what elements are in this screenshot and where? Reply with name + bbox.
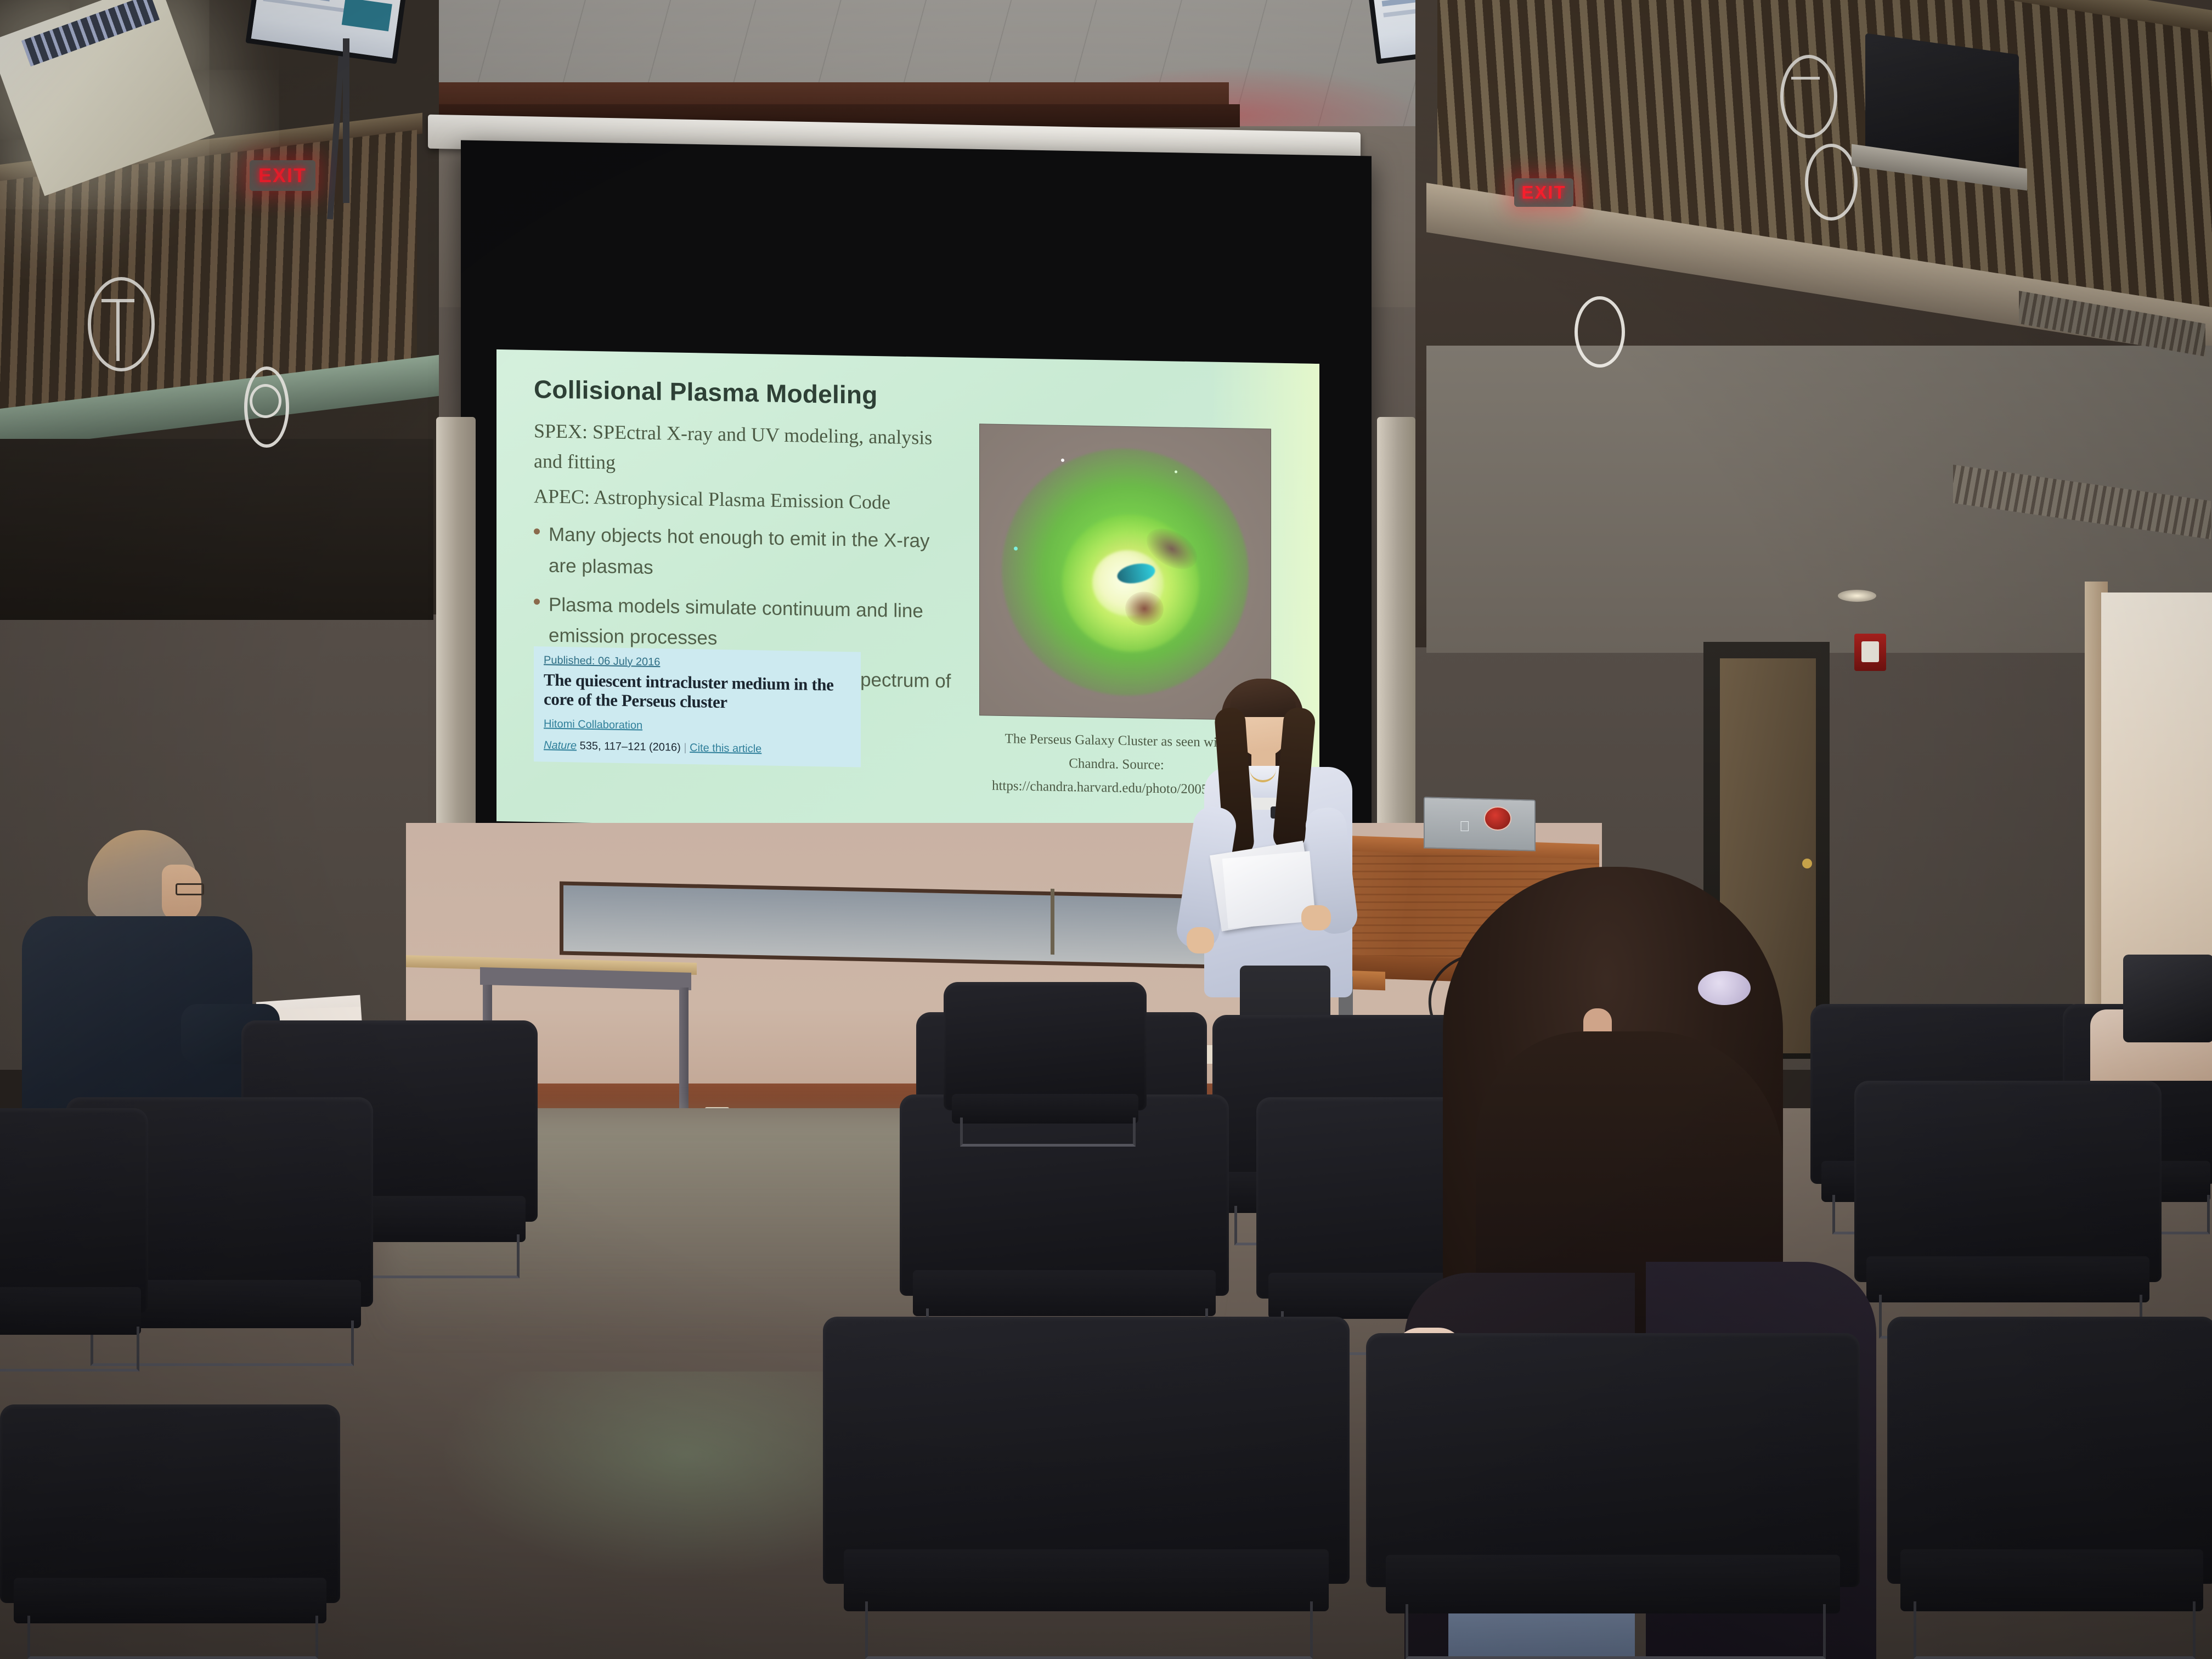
bullet-dot-icon	[534, 528, 540, 534]
right-railing-ornament-2-icon	[1805, 144, 1858, 221]
citation-journal-line: Nature 535, 117–121 (2016) | Cite this a…	[544, 740, 851, 758]
laptop[interactable]	[1424, 797, 1536, 851]
left-balcony-underside	[0, 439, 433, 620]
slide-bullet-1-text: Many objects hot enough to emit in the X…	[549, 520, 956, 589]
chair[interactable]	[944, 982, 1147, 1147]
field-star-icon	[1175, 470, 1177, 473]
citation-paper-title: The quiescent intracluster medium in the…	[544, 670, 851, 714]
citation-separator: |	[684, 742, 686, 754]
bullet-dot-icon	[534, 599, 540, 605]
eyeglasses-icon	[176, 883, 204, 895]
slide-definition-spex: SPEX: SPEctral X-ray and UV modeling, an…	[534, 416, 956, 483]
citation-journal-name[interactable]: Nature	[544, 740, 577, 752]
fire-alarm-strobe-icon	[1854, 634, 1886, 671]
chair[interactable]	[1366, 1333, 1860, 1659]
exit-sign-right: EXIT	[1514, 178, 1573, 207]
exit-sign-left-label: EXIT	[258, 164, 307, 187]
slide-bullet-1: Many objects hot enough to emit in the X…	[534, 519, 956, 589]
monitor-left-pole	[343, 38, 349, 203]
citation-authors-link[interactable]: Hitomi Collaboration	[544, 718, 851, 736]
railing-ornament-stem-icon	[116, 301, 120, 361]
lecture-hall-photo: EXIT EXIT Collisional Plasma Modeling SP…	[0, 0, 2212, 1659]
field-star-icon	[1014, 546, 1018, 550]
chair[interactable]	[0, 1404, 340, 1659]
recessed-light-icon	[1838, 590, 1876, 602]
backpack	[2123, 955, 2212, 1042]
chair[interactable]	[823, 1317, 1350, 1659]
slide-definition-apec: APEC: Astrophysical Plasma Emission Code	[534, 482, 956, 519]
railing-ornament-circle-icon	[250, 384, 281, 418]
apple-logo-icon: 	[1459, 819, 1474, 834]
whiteboard-divider	[1051, 889, 1054, 955]
cluster-cavity-2	[1125, 591, 1164, 626]
stage-table-leg	[679, 988, 689, 1116]
chandra-perseus-image	[979, 424, 1271, 720]
citation-volume-pages: 535, 117–121 (2016)	[580, 740, 681, 754]
presentation-slide: Collisional Plasma Modeling SPEX: SPEctr…	[496, 349, 1319, 836]
nature-citation-card: Published: 06 July 2016 The quiescent in…	[534, 646, 861, 768]
exit-sign-left: EXIT	[250, 160, 315, 191]
door-knob-icon[interactable]	[1802, 859, 1812, 868]
presenter-hand-right	[1301, 905, 1331, 930]
chair[interactable]	[0, 1108, 148, 1372]
chair[interactable]	[1854, 1081, 2162, 1339]
citation-published-date: Published: 06 July 2016	[544, 654, 851, 672]
right-railing-ornament-3-icon	[1575, 296, 1625, 368]
cite-this-article-link[interactable]: Cite this article	[690, 742, 761, 755]
laptop-sticker-icon	[1484, 806, 1511, 831]
exit-sign-right-label: EXIT	[1521, 182, 1566, 203]
right-railing-ornament-1-icon	[1780, 55, 1837, 138]
presenter-hand-left	[1187, 927, 1214, 953]
slide-title: Collisional Plasma Modeling	[534, 374, 956, 411]
right-railing-ornament-bar-icon	[1791, 77, 1820, 80]
hair-scrunchie-icon	[1698, 971, 1751, 1005]
chair[interactable]	[1887, 1317, 2212, 1659]
field-star-icon	[1061, 459, 1064, 462]
whiteboard-panels	[560, 881, 1269, 969]
railing-ornament-oval-icon	[88, 277, 155, 371]
